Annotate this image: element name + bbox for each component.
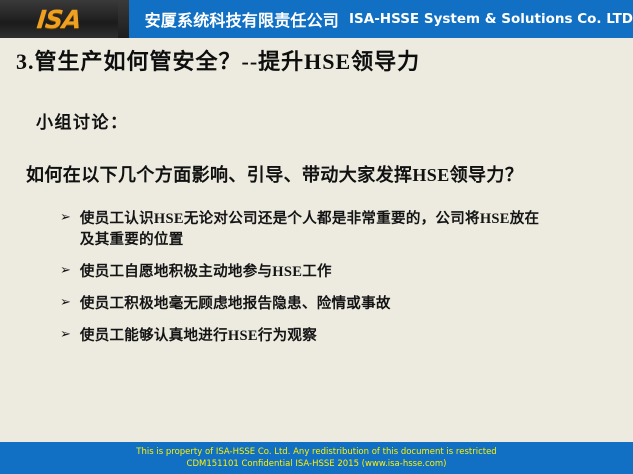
company-logo: ISA [0, 0, 118, 38]
list-item-label: 使员工能够认真地进行HSE行为观察 [80, 326, 317, 347]
header-title-bar: 安厦系统科技有限责任公司 ISA-HSSE System & Solutions… [129, 0, 633, 38]
list-item: ➢ 使员工认识HSE无论对公司还是个人都是非常重要的，公司将HSE放在及其重要的… [60, 209, 580, 251]
footer-copyright-line: This is property of ISA-HSSE Co. Ltd. An… [136, 447, 496, 458]
slide-footer: This is property of ISA-HSSE Co. Ltd. An… [0, 442, 633, 474]
footer-document-id-line: CDM151101 Confidential ISA-HSSE 2015 (ww… [187, 459, 447, 470]
slide-canvas: ISA 安厦系统科技有限责任公司 ISA-HSSE System & Solut… [0, 0, 633, 474]
company-name-en: ISA-HSSE System & Solutions Co. LTD [349, 11, 633, 27]
arrow-bullet-icon: ➢ [60, 294, 71, 313]
list-item: ➢ 使员工积极地毫无顾虑地报告隐患、险情或事故 [60, 294, 580, 315]
list-item: ➢ 使员工能够认真地进行HSE行为观察 [60, 326, 580, 347]
arrow-bullet-icon: ➢ [60, 326, 71, 345]
slide-header: ISA 安厦系统科技有限责任公司 ISA-HSSE System & Solut… [0, 0, 633, 38]
list-item-label: 使员工认识HSE无论对公司还是个人都是非常重要的，公司将HSE放在及其重要的位置 [80, 209, 550, 251]
arrow-bullet-icon: ➢ [60, 209, 71, 228]
company-name-cn: 安厦系统科技有限责任公司 [145, 7, 339, 31]
list-item-label: 使员工积极地毫无顾虑地报告隐患、险情或事故 [80, 294, 391, 315]
list-item-label: 使员工自愿地积极主动地参与HSE工作 [80, 262, 332, 283]
arrow-bullet-icon: ➢ [60, 262, 71, 281]
slide-body: 小组讨论： 如何在以下几个方面影响、引导、带动大家发挥HSE领导力？ ➢ 使员工… [0, 92, 633, 358]
discussion-question: 如何在以下几个方面影响、引导、带动大家发挥HSE领导力？ [26, 161, 633, 187]
subheading-group-discussion: 小组讨论： [36, 108, 633, 133]
bullet-list: ➢ 使员工认识HSE无论对公司还是个人都是非常重要的，公司将HSE放在及其重要的… [0, 209, 633, 347]
list-item: ➢ 使员工自愿地积极主动地参与HSE工作 [60, 262, 580, 283]
header-divider [118, 0, 129, 38]
slide-title: 3.管生产如何管安全？--提升HSE领导力 [16, 44, 420, 76]
isa-logo-icon: ISA [36, 5, 83, 34]
